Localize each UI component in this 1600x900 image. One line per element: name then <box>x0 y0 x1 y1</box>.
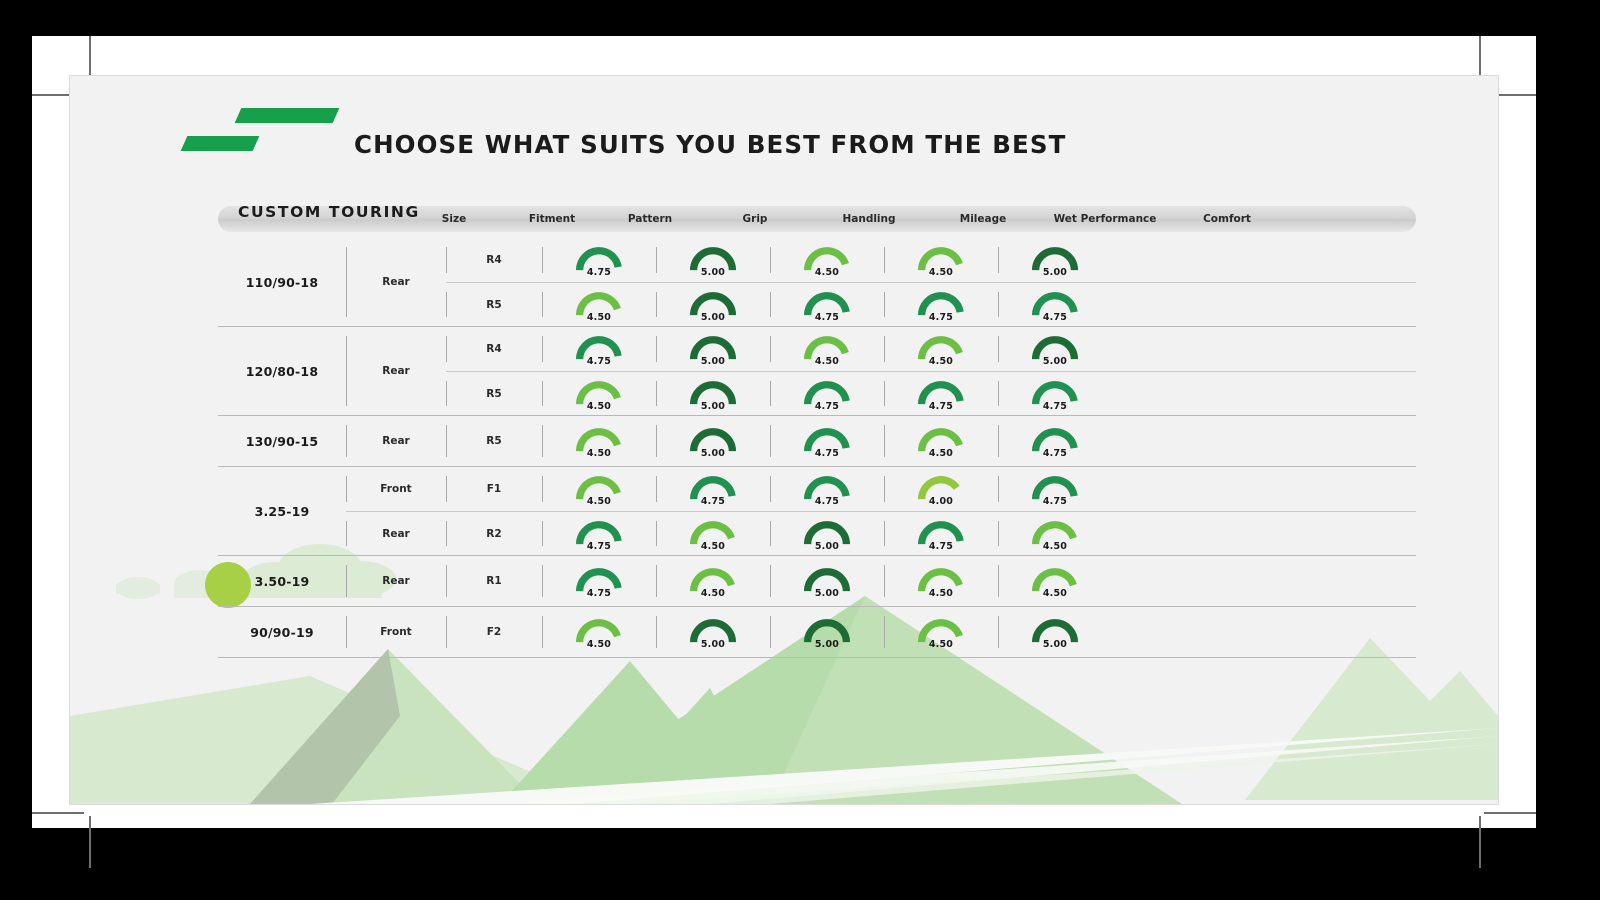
rating-gauge: 5.00 <box>798 614 856 650</box>
cell-size: 3.50-19 <box>218 556 346 606</box>
gauge-value-label: 4.50 <box>912 356 970 367</box>
gauge-value-label: 4.50 <box>912 639 970 650</box>
cell-pattern: R4 <box>446 238 542 282</box>
rating-gauge: 4.75 <box>1026 376 1084 412</box>
cell-size: 110/90-18 <box>218 238 346 326</box>
cell-pattern: R1 <box>446 556 542 606</box>
cell-fitment: Rear <box>346 416 446 466</box>
gauge-value-label: 4.75 <box>1026 312 1084 323</box>
table-row[interactable]: R44.755.004.504.505.00 <box>446 238 1416 282</box>
header-fitment: Fitment <box>502 213 602 225</box>
metric-cell: 4.75 <box>770 467 884 511</box>
metric-cell: 4.75 <box>884 512 998 555</box>
table-row-group: 3.25-19FrontF14.504.754.754.004.75RearR2… <box>218 467 1416 556</box>
pattern-stack: R44.755.004.504.505.00R54.505.004.754.75… <box>446 238 1416 326</box>
metric-cell: 4.50 <box>542 372 656 415</box>
metric-cell: 4.75 <box>770 372 884 415</box>
crop-mark-bl-v <box>89 816 91 868</box>
gauge-value-label: 5.00 <box>684 401 742 412</box>
metric-cell: 4.75 <box>998 467 1112 511</box>
pattern-stack: F24.505.005.004.505.00 <box>446 607 1416 657</box>
cell-pattern: R5 <box>446 416 542 466</box>
gauge-value-label: 4.75 <box>570 541 628 552</box>
rating-gauge: 5.00 <box>684 331 742 367</box>
metric-cell: 4.75 <box>542 556 656 606</box>
gauge-value-label: 4.50 <box>1026 588 1084 599</box>
metric-cell: 4.50 <box>998 512 1112 555</box>
accent-slash-top <box>235 108 340 123</box>
table-row-group: 3.50-19RearR14.754.505.004.504.50 <box>218 556 1416 607</box>
metric-cell: 4.50 <box>770 238 884 282</box>
metric-cell: 4.50 <box>656 512 770 555</box>
rating-gauge: 4.75 <box>1026 287 1084 323</box>
metric-cell: 5.00 <box>770 512 884 555</box>
cell-pattern: R5 <box>446 372 542 415</box>
header-wet-performance: Wet Performance <box>1040 213 1170 225</box>
rating-gauge: 5.00 <box>798 516 856 552</box>
rating-gauge: 4.50 <box>684 516 742 552</box>
metric-cell: 5.00 <box>656 327 770 371</box>
row-group-inner: RearR44.755.004.504.505.00R54.505.004.75… <box>346 238 1416 326</box>
header-handling: Handling <box>812 213 926 225</box>
rating-gauge: 4.75 <box>798 376 856 412</box>
crop-mark-br-h <box>1484 812 1536 814</box>
table-row-group: 110/90-18RearR44.755.004.504.505.00R54.5… <box>218 238 1416 327</box>
gauge-value-label: 4.75 <box>570 588 628 599</box>
rating-gauge: 4.50 <box>912 331 970 367</box>
gauge-value-label: 5.00 <box>798 588 856 599</box>
cell-pattern: R5 <box>446 283 542 326</box>
metric-cell: 4.75 <box>770 416 884 466</box>
cell-size: 3.25-19 <box>218 467 346 555</box>
metric-cell: 4.50 <box>998 556 1112 606</box>
slide-artboard: CHOOSE WHAT SUITS YOU BEST FROM THE BEST… <box>70 76 1498 804</box>
pattern-stack: R14.754.505.004.504.50 <box>446 556 1416 606</box>
gauge-value-label: 4.75 <box>1026 448 1084 459</box>
row-group-body: RearR44.755.004.504.505.00R54.505.004.75… <box>346 327 1416 415</box>
rating-gauge: 4.50 <box>570 614 628 650</box>
cell-size: 90/90-19 <box>218 607 346 657</box>
row-group-body: FrontF14.504.754.754.004.75RearR24.754.5… <box>346 467 1416 555</box>
metric-cell: 5.00 <box>656 238 770 282</box>
gauge-value-label: 4.50 <box>570 639 628 650</box>
row-group-body: RearR54.505.004.754.504.75 <box>346 416 1416 466</box>
table-row-group: 120/80-18RearR44.755.004.504.505.00R54.5… <box>218 327 1416 416</box>
rating-gauge: 4.50 <box>570 287 628 323</box>
metric-cell: 5.00 <box>770 607 884 657</box>
metric-cell: 4.50 <box>656 556 770 606</box>
header-comfort: Comfort <box>1170 213 1284 225</box>
gauge-value-label: 4.50 <box>912 267 970 278</box>
row-group-body: RearR44.755.004.504.505.00R54.505.004.75… <box>346 238 1416 326</box>
metric-cell: 4.75 <box>770 283 884 326</box>
comparison-table: CUSTOM TOURING Size Fitment Pattern Grip… <box>218 206 1416 658</box>
rating-gauge: 4.00 <box>912 471 970 507</box>
metric-cell: 5.00 <box>656 607 770 657</box>
mountain-back-right <box>1245 638 1498 800</box>
metric-cell: 4.50 <box>542 467 656 511</box>
header-grip: Grip <box>698 213 812 225</box>
metric-cell: 4.75 <box>884 372 998 415</box>
cell-fitment: Front <box>346 467 446 511</box>
rating-gauge: 4.75 <box>912 376 970 412</box>
rating-gauge: 4.50 <box>798 242 856 278</box>
rating-gauge: 5.00 <box>684 287 742 323</box>
rating-gauge: 4.50 <box>912 614 970 650</box>
metric-cell: 4.75 <box>542 238 656 282</box>
table-row[interactable]: F24.505.005.004.505.00 <box>446 607 1416 657</box>
rating-gauge: 4.75 <box>798 471 856 507</box>
rating-gauge: 4.75 <box>570 516 628 552</box>
rating-gauge: 4.50 <box>912 563 970 599</box>
gauge-value-label: 5.00 <box>1026 267 1084 278</box>
metric-cell: 4.75 <box>884 283 998 326</box>
rating-gauge: 4.50 <box>912 242 970 278</box>
table-row[interactable]: R14.754.505.004.504.50 <box>446 556 1416 606</box>
gauge-value-label: 4.75 <box>570 267 628 278</box>
cell-fitment: Rear <box>346 327 446 415</box>
cell-fitment: Rear <box>346 556 446 606</box>
metric-cell: 4.75 <box>656 467 770 511</box>
rating-gauge: 4.50 <box>570 471 628 507</box>
metric-cell: 5.00 <box>656 283 770 326</box>
table-row[interactable]: R54.505.004.754.754.75 <box>446 371 1416 415</box>
gauge-value-label: 4.75 <box>1026 496 1084 507</box>
table-row[interactable]: RearR24.754.505.004.754.50 <box>346 511 1416 555</box>
crop-mark-bl-h <box>32 812 84 814</box>
gauge-value-label: 4.50 <box>570 496 628 507</box>
cell-fitment: Rear <box>346 512 446 555</box>
gauge-value-label: 5.00 <box>684 267 742 278</box>
header-pattern: Pattern <box>602 213 698 225</box>
pattern-stack: R54.505.004.754.504.75 <box>446 416 1416 466</box>
header-mileage: Mileage <box>926 213 1040 225</box>
gauge-value-label: 4.50 <box>912 448 970 459</box>
mountain-sub-peak <box>500 661 770 804</box>
table-row[interactable]: R54.505.004.754.504.75 <box>446 416 1416 466</box>
metric-cell: 4.75 <box>542 327 656 371</box>
rating-gauge: 4.50 <box>1026 516 1084 552</box>
rating-gauge: 4.50 <box>798 331 856 367</box>
gauge-value-label: 4.50 <box>798 356 856 367</box>
gauge-value-label: 5.00 <box>1026 356 1084 367</box>
gauge-value-label: 5.00 <box>1026 639 1084 650</box>
metric-cell: 4.50 <box>770 327 884 371</box>
gauge-value-label: 5.00 <box>798 639 856 650</box>
road-streak-a <box>310 728 1498 804</box>
rating-gauge: 4.75 <box>570 331 628 367</box>
gauge-value-label: 4.50 <box>570 401 628 412</box>
gauge-value-label: 5.00 <box>684 639 742 650</box>
metric-cell: 4.50 <box>542 416 656 466</box>
headline-text: CHOOSE WHAT SUITS YOU BEST FROM THE BEST <box>354 130 1066 159</box>
gauge-value-label: 4.75 <box>798 401 856 412</box>
gauge-value-label: 4.50 <box>1026 541 1084 552</box>
road-streak-b <box>490 736 1498 804</box>
gauge-value-label: 5.00 <box>684 448 742 459</box>
rating-gauge: 4.75 <box>798 287 856 323</box>
metric-cell: 4.75 <box>998 372 1112 415</box>
pattern-stack: R44.755.004.504.505.00R54.505.004.754.75… <box>446 327 1416 415</box>
gauge-value-label: 4.50 <box>570 448 628 459</box>
metric-cell: 4.50 <box>884 416 998 466</box>
cell-pattern: R2 <box>446 512 542 555</box>
rating-gauge: 4.75 <box>912 287 970 323</box>
rating-gauge: 4.50 <box>570 376 628 412</box>
table-header-bar: CUSTOM TOURING Size Fitment Pattern Grip… <box>218 206 1416 232</box>
gauge-value-label: 4.00 <box>912 496 970 507</box>
gauge-value-label: 5.00 <box>798 541 856 552</box>
rating-gauge: 5.00 <box>1026 242 1084 278</box>
metric-cell: 5.00 <box>656 416 770 466</box>
rating-gauge: 5.00 <box>684 242 742 278</box>
rating-gauge: 4.75 <box>1026 423 1084 459</box>
cell-fitment: Rear <box>346 238 446 326</box>
metric-cell: 5.00 <box>656 372 770 415</box>
rating-gauge: 4.75 <box>798 423 856 459</box>
mountain-hill-left <box>70 676 540 804</box>
metric-cell: 4.50 <box>884 607 998 657</box>
metric-cell: 5.00 <box>998 238 1112 282</box>
metric-cell: 4.75 <box>998 283 1112 326</box>
row-group-inner: RearR14.754.505.004.504.50 <box>346 556 1416 606</box>
metric-cell: 5.00 <box>770 556 884 606</box>
crop-mark-br-v <box>1479 816 1481 868</box>
table-row[interactable]: R54.505.004.754.754.75 <box>446 282 1416 326</box>
road-streak-c <box>630 744 1498 804</box>
rating-gauge: 5.00 <box>1026 614 1084 650</box>
cell-size: 120/80-18 <box>218 327 346 415</box>
table-row-group: 130/90-15RearR54.505.004.754.504.75 <box>218 416 1416 467</box>
gauge-value-label: 4.75 <box>912 312 970 323</box>
metric-cell: 4.50 <box>542 283 656 326</box>
mountain-mid <box>250 649 540 804</box>
rating-gauge: 5.00 <box>684 376 742 412</box>
row-group-inner: RearR44.755.004.504.505.00R54.505.004.75… <box>346 327 1416 415</box>
gauge-value-label: 4.75 <box>798 312 856 323</box>
rating-gauge: 4.50 <box>570 423 628 459</box>
accent-slash-bottom <box>181 136 260 151</box>
metric-cell: 4.75 <box>542 512 656 555</box>
rating-gauge: 5.00 <box>1026 331 1084 367</box>
gauge-value-label: 4.50 <box>570 312 628 323</box>
gauge-value-label: 4.50 <box>798 267 856 278</box>
gauge-value-label: 4.50 <box>684 588 742 599</box>
row-group-inner: FrontF24.505.005.004.505.00 <box>346 607 1416 657</box>
metric-cell: 4.50 <box>884 238 998 282</box>
metric-cell: 5.00 <box>998 607 1112 657</box>
metric-cell: 4.50 <box>884 556 998 606</box>
rating-gauge: 5.00 <box>684 423 742 459</box>
row-group-inner: RearR54.505.004.754.504.75 <box>346 416 1416 466</box>
gauge-value-label: 4.50 <box>912 588 970 599</box>
rating-gauge: 4.75 <box>570 242 628 278</box>
gauge-value-label: 4.75 <box>798 496 856 507</box>
metric-cell: 4.00 <box>884 467 998 511</box>
rating-gauge: 4.75 <box>570 563 628 599</box>
table-body: 110/90-18RearR44.755.004.504.505.00R54.5… <box>218 238 1416 658</box>
table-row[interactable]: FrontF14.504.754.754.004.75 <box>346 467 1416 511</box>
rating-gauge: 4.50 <box>1026 563 1084 599</box>
rating-gauge: 5.00 <box>798 563 856 599</box>
cell-pattern: F1 <box>446 467 542 511</box>
rating-gauge: 4.75 <box>684 471 742 507</box>
gauge-value-label: 4.75 <box>798 448 856 459</box>
metric-cell: 4.75 <box>998 416 1112 466</box>
gauge-value-label: 5.00 <box>684 356 742 367</box>
row-group-body: FrontF24.505.005.004.505.00 <box>346 607 1416 657</box>
gauge-value-label: 5.00 <box>684 312 742 323</box>
table-row-group: 90/90-19FrontF24.505.005.004.505.00 <box>218 607 1416 658</box>
table-row[interactable]: R44.755.004.504.505.00 <box>446 327 1416 371</box>
cell-fitment: Front <box>346 607 446 657</box>
cell-pattern: R4 <box>446 327 542 371</box>
rating-gauge: 4.50 <box>912 423 970 459</box>
rating-gauge: 5.00 <box>684 614 742 650</box>
header-size: Size <box>406 213 502 225</box>
metric-cell: 4.50 <box>542 607 656 657</box>
metric-cell: 4.50 <box>884 327 998 371</box>
row-group-body: RearR14.754.505.004.504.50 <box>346 556 1416 606</box>
gauge-value-label: 4.50 <box>684 541 742 552</box>
gauge-value-label: 4.75 <box>570 356 628 367</box>
gauge-value-label: 4.75 <box>912 541 970 552</box>
mountain-mid-shadow <box>250 649 400 804</box>
rating-gauge: 4.75 <box>1026 471 1084 507</box>
rating-gauge: 4.75 <box>912 516 970 552</box>
metric-cell: 5.00 <box>998 327 1112 371</box>
cell-size: 130/90-15 <box>218 416 346 466</box>
gauge-value-label: 4.75 <box>684 496 742 507</box>
gauge-value-label: 4.75 <box>1026 401 1084 412</box>
cell-pattern: F2 <box>446 607 542 657</box>
gauge-value-label: 4.75 <box>912 401 970 412</box>
brand-tag: CUSTOM TOURING <box>238 203 420 221</box>
rating-gauge: 4.50 <box>684 563 742 599</box>
